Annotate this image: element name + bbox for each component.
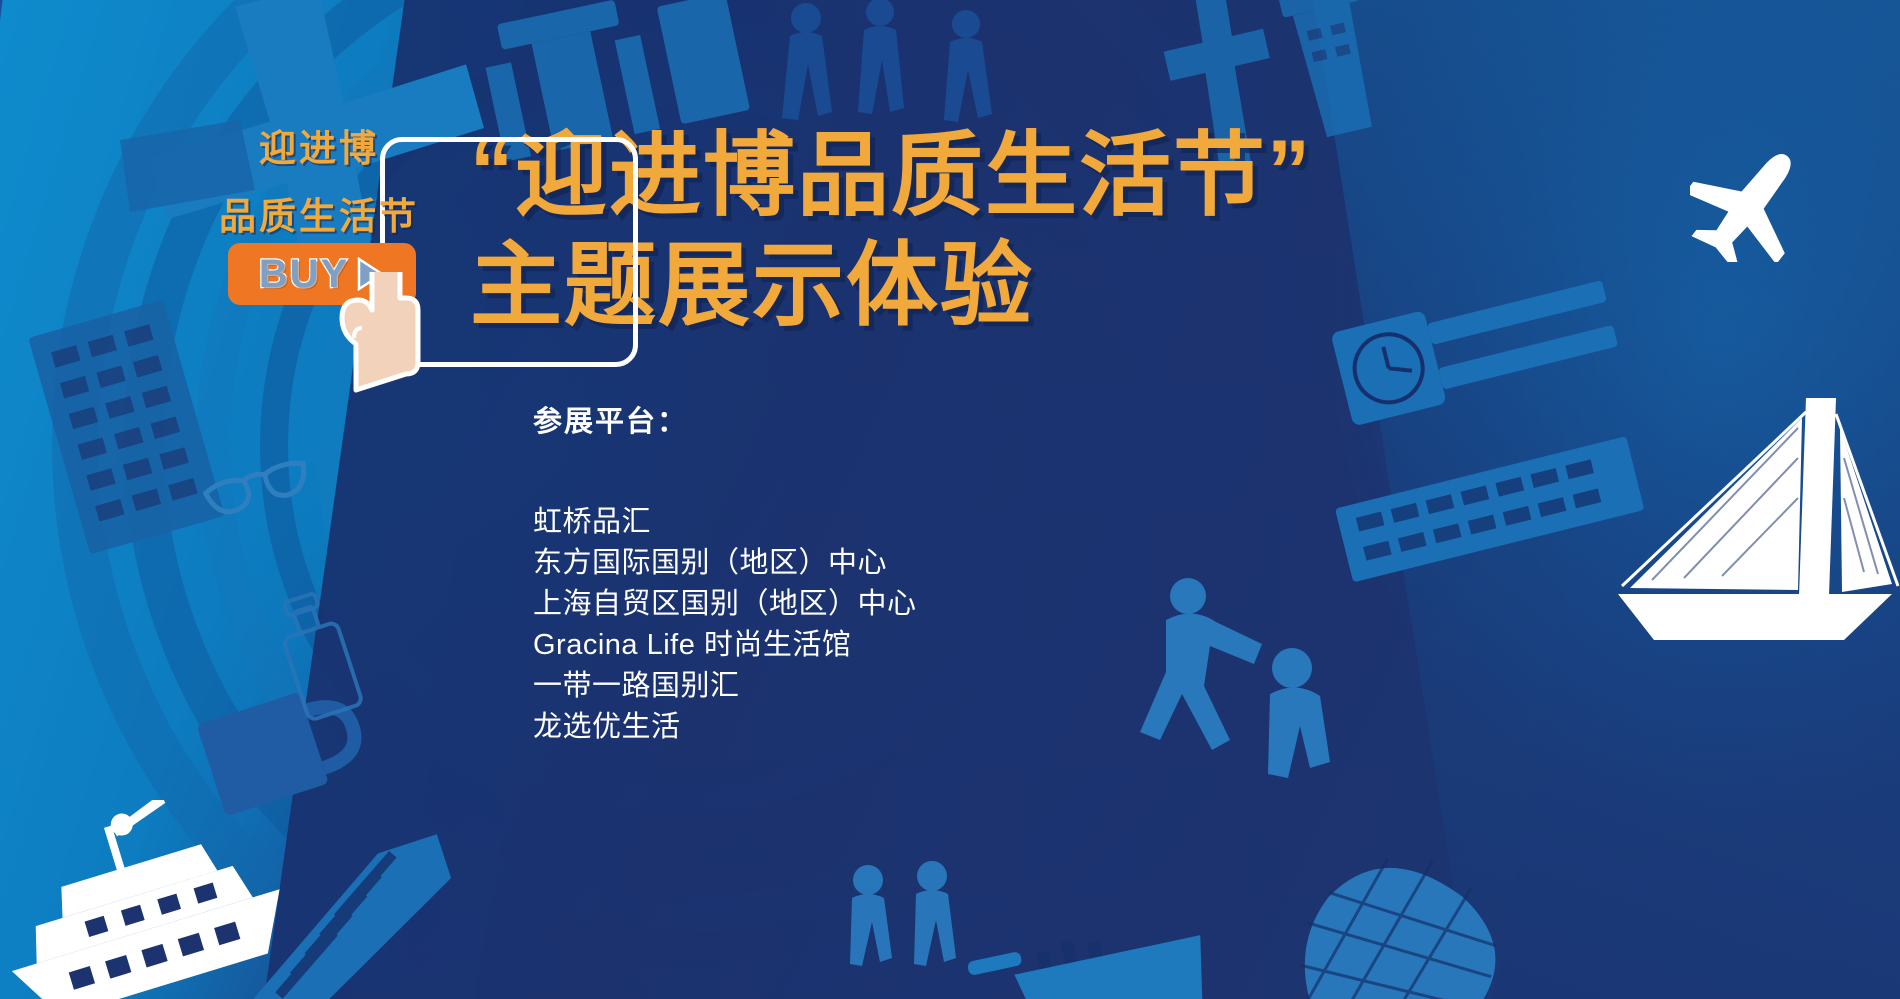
- list-item: 龙选优生活: [533, 707, 917, 748]
- platform-list: 虹桥品汇 东方国际国别（地区）中心 上海自贸区国别（地区）中心 Gracina …: [533, 502, 917, 748]
- list-item: 上海自贸区国别（地区）中心: [533, 584, 917, 625]
- logo-line-2: 品质生活节: [190, 186, 448, 240]
- logo-line-1: 迎进博: [190, 118, 448, 172]
- platform-section-title: 参展平台：: [533, 398, 917, 440]
- pointing-hand-icon: [322, 272, 434, 399]
- list-item: Gracina Life 时尚生活馆: [533, 625, 917, 666]
- list-item: 一带一路国别汇: [533, 666, 917, 707]
- list-item: 虹桥品汇: [533, 502, 917, 543]
- promo-banner: 迎进博 品质生活节 BUY “迎进博品质生活节” 主题展示体验 参展平台： 虹桥…: [0, 0, 1900, 999]
- close-quote: ”: [1267, 123, 1312, 219]
- list-item: 东方国际国别（地区）中心: [533, 543, 917, 584]
- platform-section: 参展平台： 虹桥品汇 东方国际国别（地区）中心 上海自贸区国别（地区）中心 Gr…: [533, 398, 917, 748]
